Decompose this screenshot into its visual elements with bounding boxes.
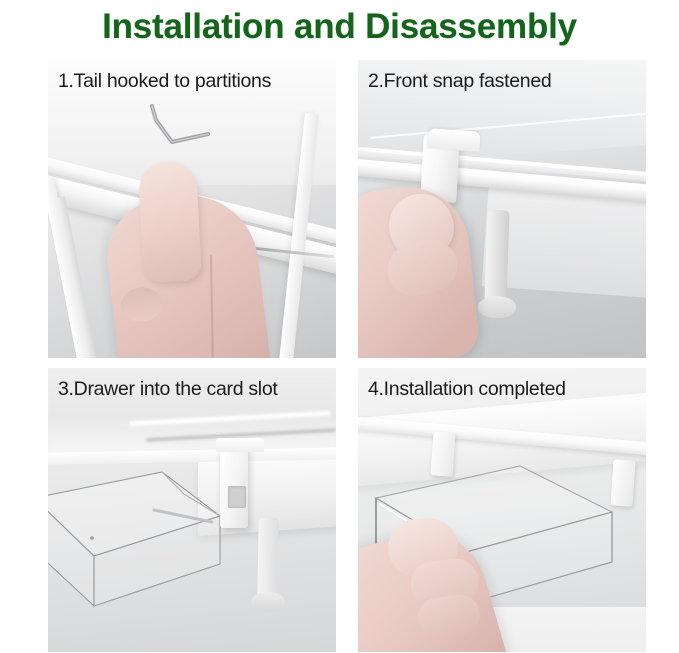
step-caption-4: 4.Installation completed: [368, 380, 566, 400]
steps-grid: 1.Tail hooked to partitions 2.Front snap…: [48, 60, 646, 652]
clear-acrylic-drawer: [48, 464, 234, 624]
step-panel-4: 4.Installation completed: [358, 368, 646, 652]
finger-separation-line: [210, 255, 214, 358]
step-caption-3: 3.Drawer into the card slot: [58, 380, 278, 400]
knuckle: [119, 285, 165, 324]
product-instruction-image: Installation and Disassembly: [0, 0, 679, 653]
step-panel-2: 2.Front snap fastened: [358, 60, 646, 358]
support-leg-foot: [478, 296, 516, 318]
snap-clamp-hook: [427, 128, 480, 152]
step-panel-1: 1.Tail hooked to partitions: [48, 60, 336, 358]
card-slot-cap: [216, 438, 264, 452]
metal-hook-tail: [148, 104, 218, 148]
support-leg: [484, 210, 509, 303]
card-slot-opening: [228, 486, 246, 508]
step-panel-3: 3.Drawer into the card slot: [48, 368, 336, 652]
title-bar: Installation and Disassembly: [0, 0, 679, 52]
thumb: [138, 160, 202, 283]
page-title: Installation and Disassembly: [102, 9, 577, 44]
step-caption-2: 2.Front snap fastened: [368, 72, 551, 92]
left-mount-clip: [430, 431, 455, 476]
support-leg: [257, 518, 278, 598]
step-caption-1: 1.Tail hooked to partitions: [58, 72, 271, 92]
hand-pressing-clamp: [358, 181, 481, 358]
support-leg-foot: [251, 592, 285, 612]
right-mount-clip: [610, 459, 635, 506]
